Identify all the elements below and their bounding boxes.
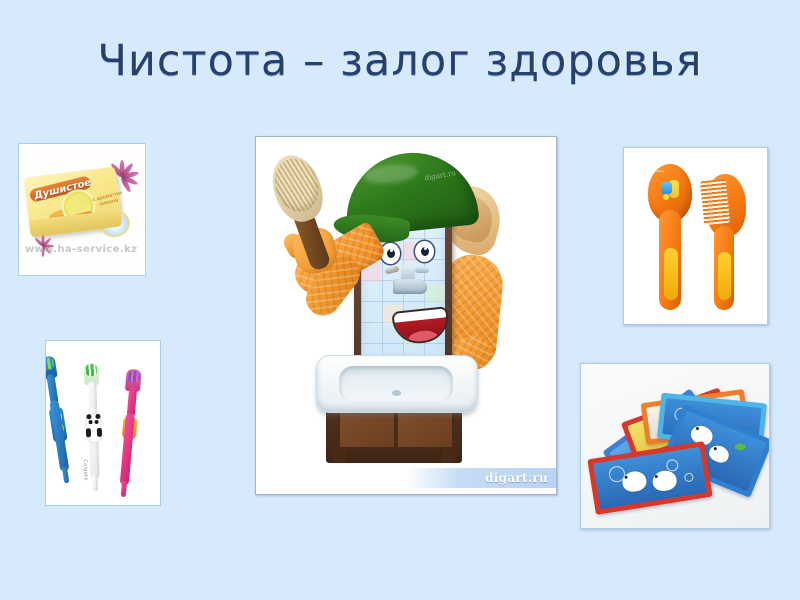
soap-bar-photo-panel: Душистое Душистое с ароматом лимона www.… [18,143,146,276]
faucet-left-handle [384,265,399,274]
sticker-dot-shape [663,194,669,200]
hairbrush-grip [664,248,678,300]
toothbrush-brand-label: Colgate [82,459,89,481]
cabinet-right-leg [441,447,457,463]
sink-basin [316,355,478,413]
eye-highlight [390,249,393,252]
cartoon-watermark-banner: digart.ru [406,468,556,488]
cap-watermark: digart.ru [424,169,457,182]
page-title: Чистота – залог здоровья [0,36,800,86]
childrens-handkerchiefs-photo-panel [580,363,770,529]
washstand-cabinet [318,355,470,477]
brush-comb-illustration: baby [624,148,767,324]
comb-icon [704,174,746,310]
panda-ears [86,414,91,419]
hairbrush-sticker [661,178,683,202]
cartoon-watermark-text: digart.ru [485,471,548,485]
leaf-print [734,442,746,452]
baby-hairbrush-and-comb-photo-panel: baby [623,147,768,325]
panda-figure-icon [85,413,102,444]
cartoon-animal-print [651,469,678,493]
faucet-right-handle [415,267,429,273]
handkerchief-illustration [581,364,769,528]
soap-photo-watermark: www.ha-service.kz [25,244,141,255]
panda-eyes [89,420,93,424]
character-mouth [394,308,449,343]
sink-bowl [339,366,453,402]
childrens-toothbrushes-photo-panel: Colgate [45,340,161,506]
hairbrush-brand-label: baby [656,169,665,173]
character-tongue [408,329,440,343]
faucet-spout [393,279,427,294]
handkerchief-inner [593,447,707,509]
toothbrush-tip [62,467,69,484]
cabinet-left-leg [331,447,347,463]
cartoon-washbasin-character-panel: digart.ru [255,136,557,495]
bubble-decoration [684,472,694,482]
cap-highlight [363,162,419,186]
toothbrush-tip [92,475,98,491]
panda-arms [86,428,91,437]
soap-package: Душистое Душистое с ароматом лимона [24,167,123,238]
character-right-eye [415,241,434,262]
sticker-bird-shape [661,182,672,194]
slide-canvas: Чистота – залог здоровья Душистое Душист… [0,0,800,600]
cartoon-animal-print [707,443,732,465]
toothbrush-illustration: Colgate [46,341,160,505]
washbasin-character-illustration: digart.ru [256,137,556,494]
sink-drain [392,390,401,396]
comb-teeth [700,179,730,225]
comb-grip [718,252,731,300]
eye-highlight [424,247,427,250]
soap-illustration: Душистое Душистое с ароматом лимона www.… [19,144,145,275]
faucet-nose-icon [385,265,435,305]
hairbrush-icon: baby [648,164,692,310]
